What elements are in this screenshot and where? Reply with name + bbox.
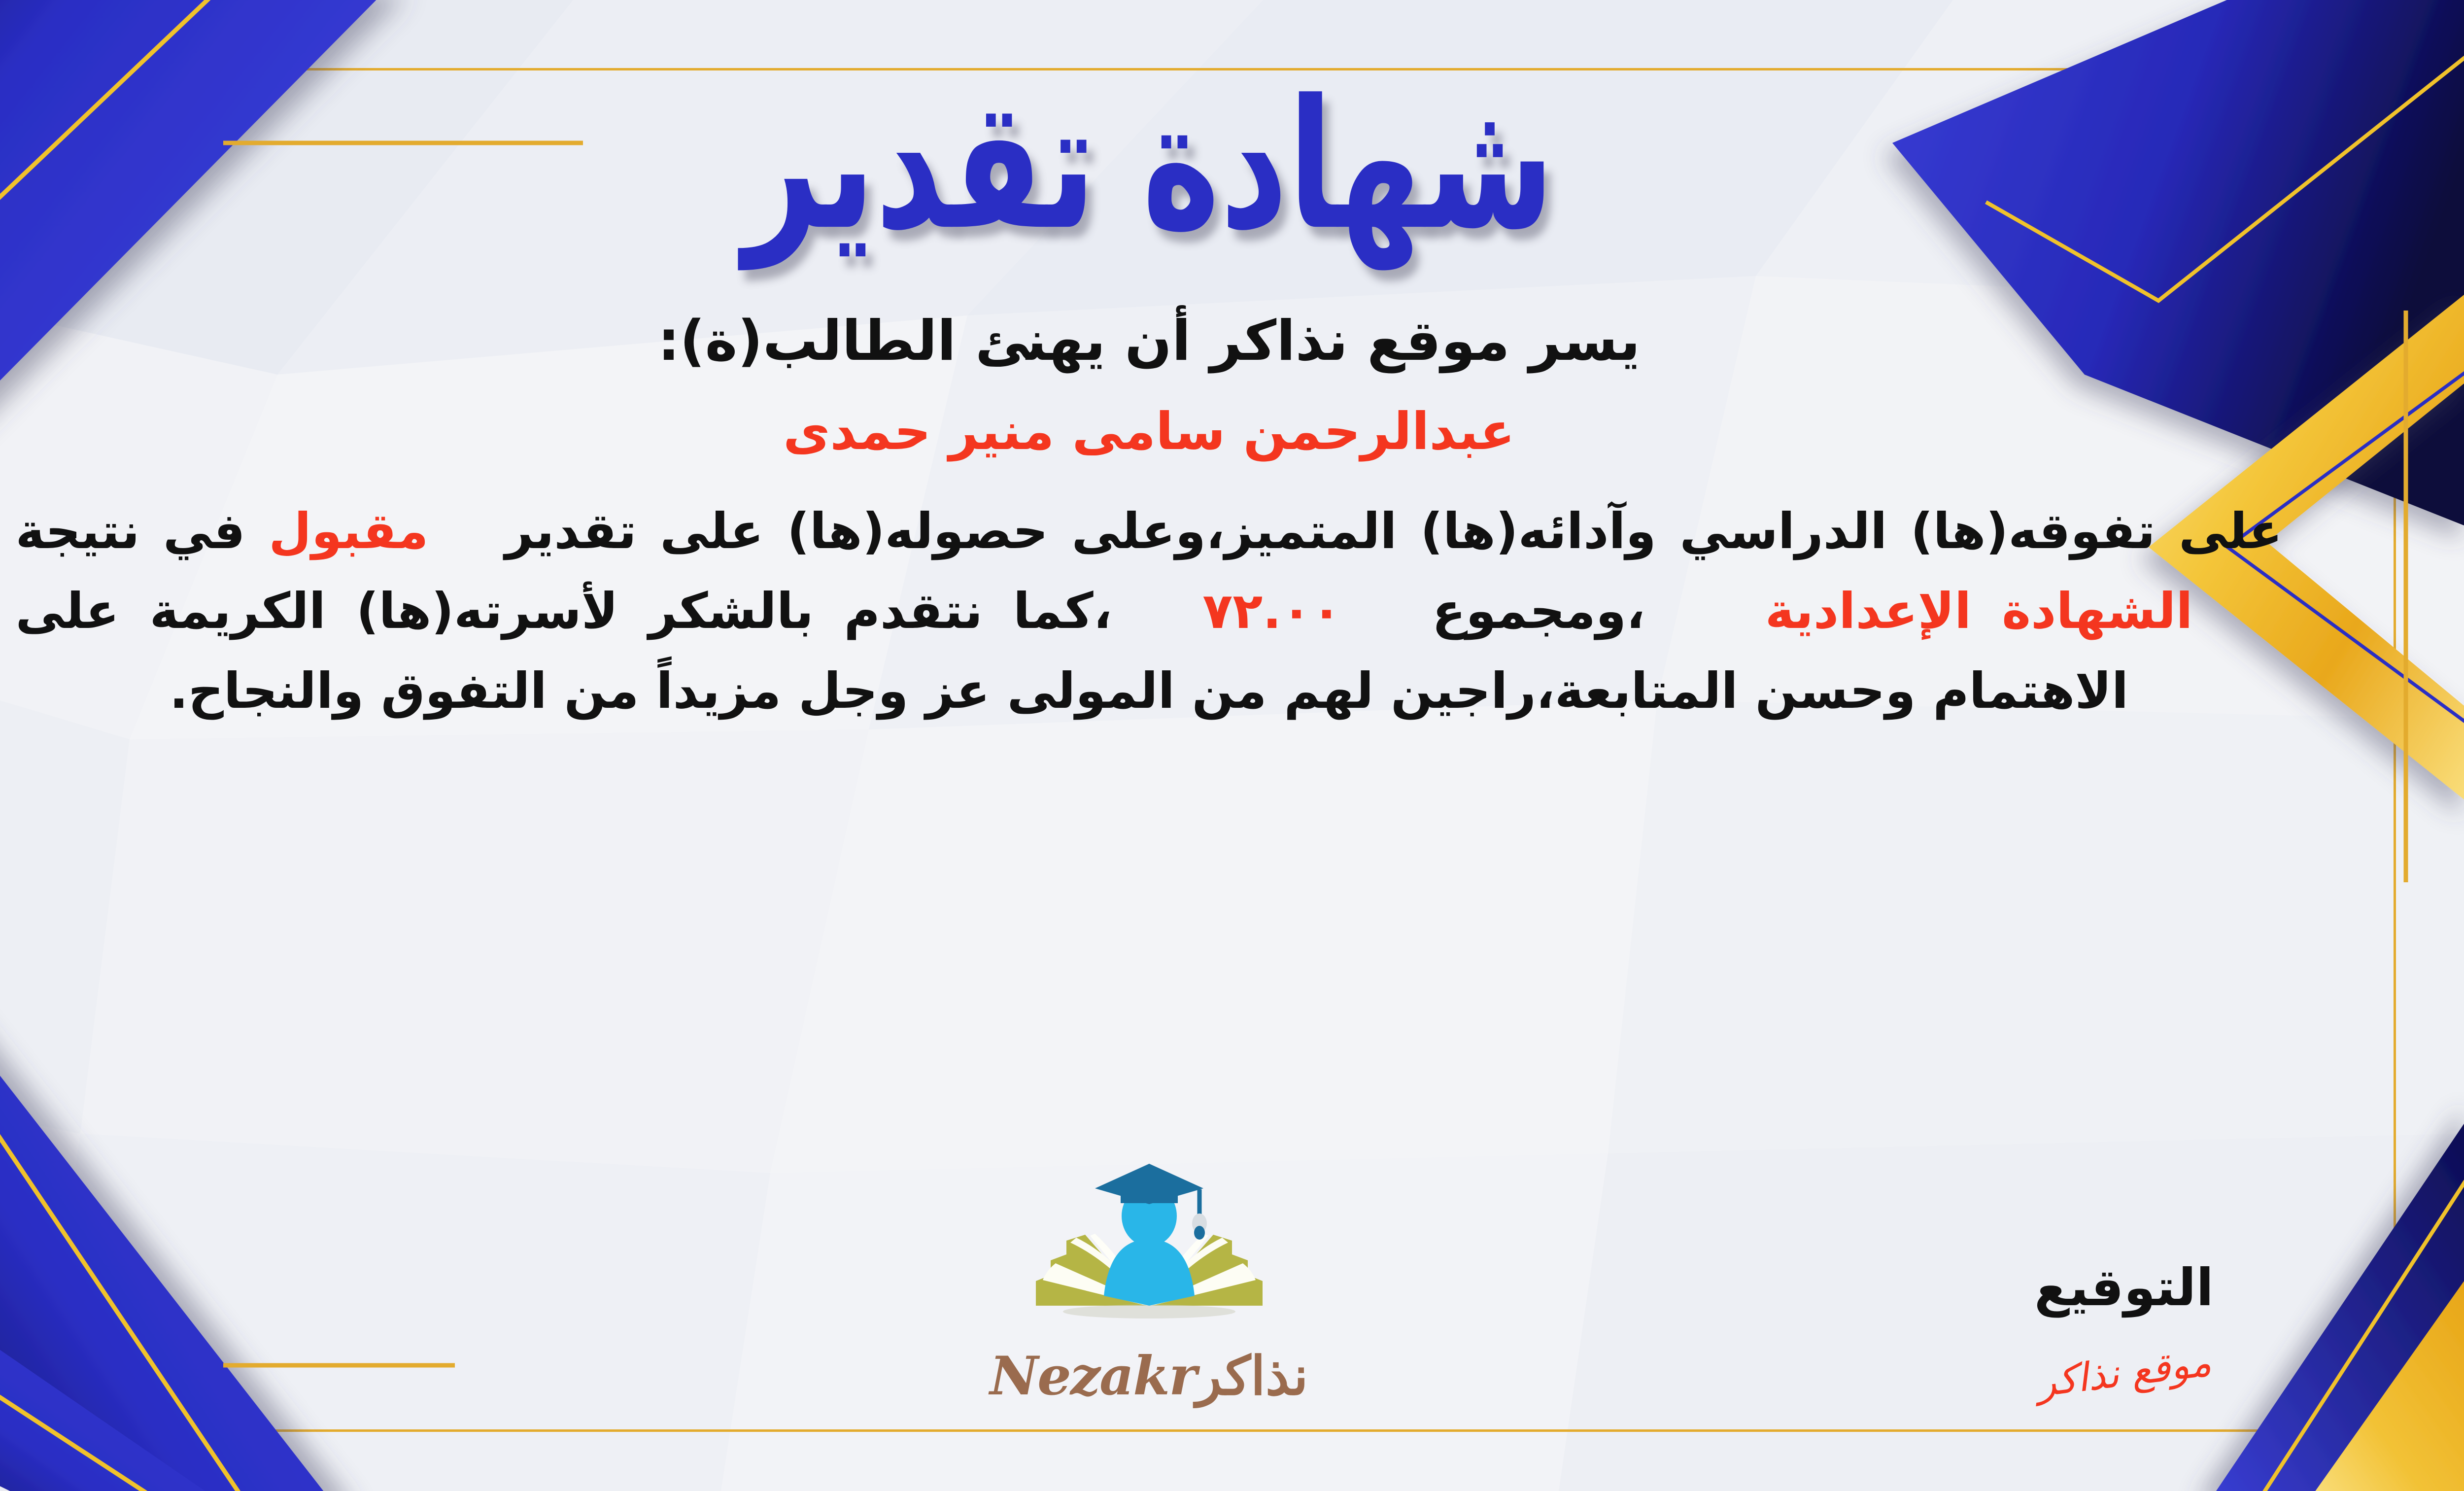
certificate-page: شهادة تقدير يسر موقع نذاكر أن يهنئ الطال… [0,0,2464,1491]
logo-word-latin: Nezakr [990,1345,1196,1407]
signature-label: التوقيع [1853,1259,2395,1316]
graduate-book-logo-icon [1021,1158,1277,1350]
grade-value: مقبول [269,502,428,560]
student-name: عبدالرحمن سامى منير حمدى [0,398,2302,465]
citation-paragraph: على تفوقه(ها) الدراسي وآدائه(ها) المتميز… [16,491,2283,731]
logo-wordmark: نذاكرNezakr [962,1345,1336,1407]
signature-block: التوقيع موقع نذاكر [1853,1259,2395,1397]
logo-word-arabic: نذاكر [1196,1345,1308,1407]
signature-mark: موقع نذاكر [2034,1340,2214,1406]
citation-part-3: ،كما نتقدم بالشكر لأسرته(ها) [356,582,1112,640]
greeting-line: يسر موقع نذاكر أن يهنئ الطالب(ة): [0,307,2302,376]
certificate-content: شهادة تقدير يسر موقع نذاكر أن يهنئ الطال… [0,0,2464,1491]
certificate-footer: التوقيع موقع نذاكر [0,1102,2464,1417]
citation-part-5: مزيداً من التفوق والنجاح. [170,662,781,720]
citation-part-2: في نتيجة [16,502,245,560]
site-logo: نذاكرNezakr [962,1158,1336,1407]
exam-name: الشهادة الإعدادية [1765,582,2193,640]
citation-part-1: على تفوقه(ها) الدراسي وآدائه(ها) المتميز… [505,502,2283,560]
total-label: ،ومجموع [1432,582,1645,640]
page-title: شهادة تقدير [744,63,1555,268]
total-score: ٧٢.٠٠ [1202,582,1341,640]
certificate-body: يسر موقع نذاكر أن يهنئ الطالب(ة): عبدالر… [0,307,2302,731]
